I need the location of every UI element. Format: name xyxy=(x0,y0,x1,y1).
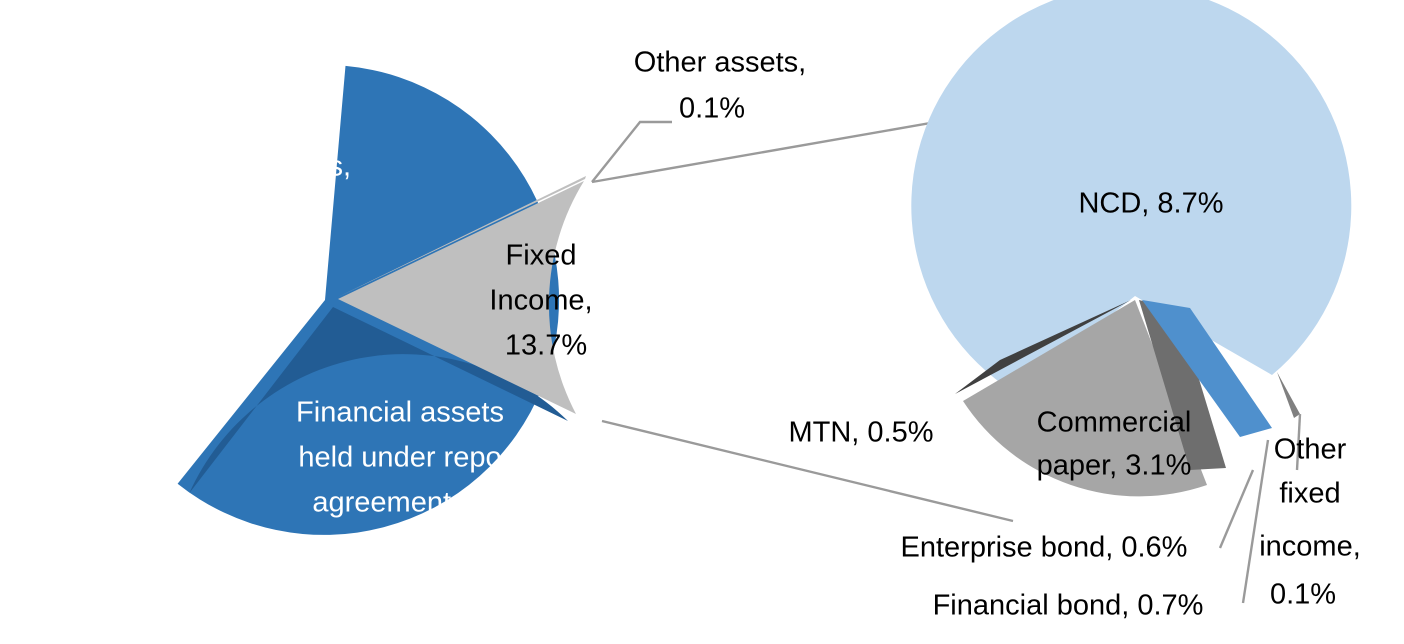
label-bank-deposits-line2: 60.3% xyxy=(181,194,263,226)
pie-of-pie-chart: Bank deposits, 60.3% Financial assets he… xyxy=(0,0,1404,644)
label-other-assets-line2: 0.1% xyxy=(679,93,745,125)
label-enterprise-bond: Enterprise bond, 0.6% xyxy=(901,532,1188,564)
label-other-fixed-line1: Other xyxy=(1274,434,1347,466)
label-other-assets-line1: Other assets, xyxy=(634,47,806,79)
label-commercial-paper-line2: paper, 3.1% xyxy=(1037,450,1192,482)
label-fixed-income-line2: Income, xyxy=(489,285,592,317)
label-financial-bond: Financial bond, 0.7% xyxy=(933,590,1204,622)
label-other-fixed-line3: income, xyxy=(1259,531,1361,563)
label-commercial-paper-line1: Commercial xyxy=(1037,407,1192,439)
label-repo-line1: Financial assets xyxy=(296,397,504,429)
label-repo-line3: agreements, xyxy=(312,487,473,519)
label-mtn: MTN, 0.5% xyxy=(788,417,933,449)
label-other-fixed-line2: fixed xyxy=(1279,478,1340,510)
label-bank-deposits-line1: Bank deposits, xyxy=(161,151,351,183)
chart-canvas: Bank deposits, 60.3% Financial assets he… xyxy=(0,0,1404,644)
label-repo-line4: 25.9% xyxy=(340,532,422,564)
label-other-fixed-line4: 0.1% xyxy=(1270,579,1336,611)
label-fixed-income-line3: 13.7% xyxy=(505,330,587,362)
label-fixed-income-line1: Fixed xyxy=(506,240,577,272)
label-ncd: NCD, 8.7% xyxy=(1078,188,1223,220)
label-repo-line2: held under repo xyxy=(298,442,501,474)
